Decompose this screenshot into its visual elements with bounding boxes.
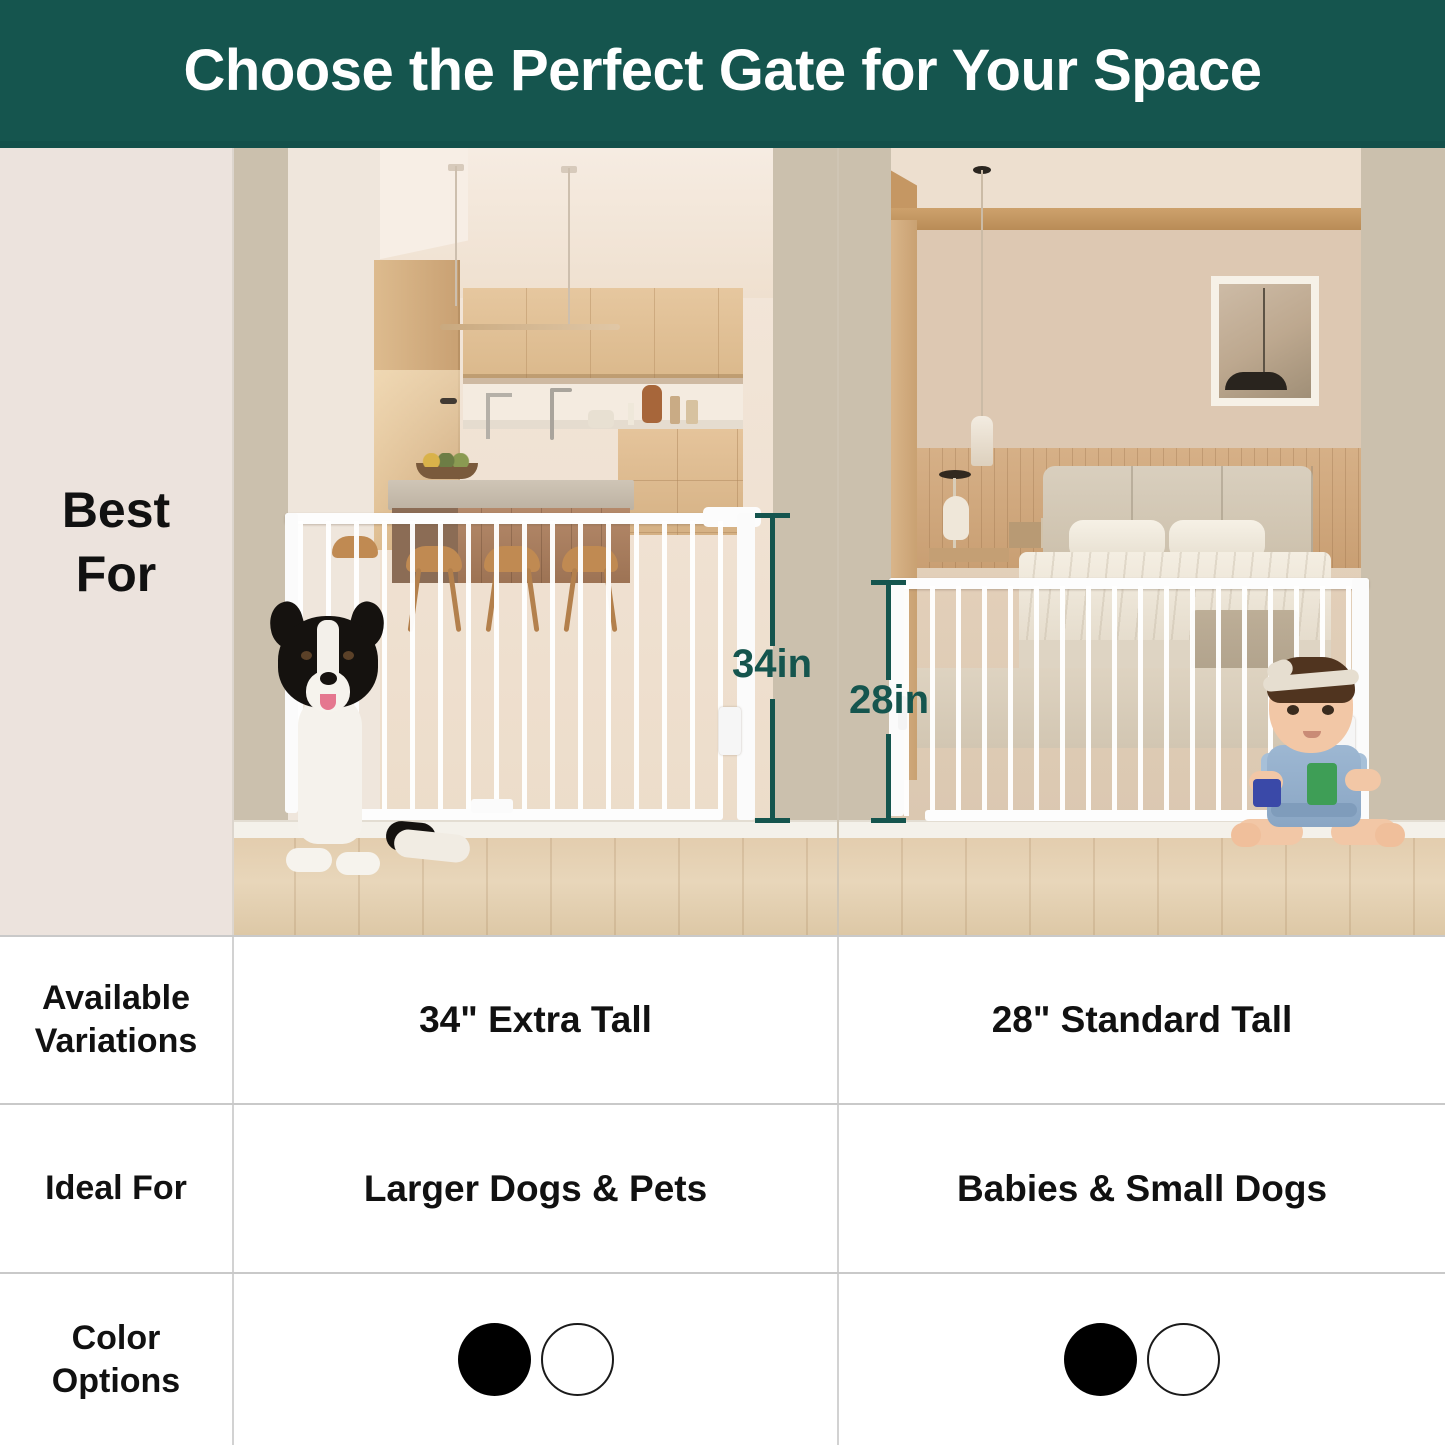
hero-divider-left bbox=[232, 148, 234, 935]
swatch-black-right[interactable] bbox=[1064, 1323, 1137, 1396]
dog-tail bbox=[393, 828, 472, 864]
border-collie-dog bbox=[254, 616, 464, 891]
faucet-1-spout bbox=[486, 393, 512, 397]
gate-mid-joint bbox=[471, 799, 513, 813]
artwork-canvas bbox=[1219, 284, 1311, 398]
color-swatches-left bbox=[232, 1274, 839, 1445]
faucet-1 bbox=[486, 393, 490, 439]
dog-tongue bbox=[320, 694, 336, 710]
baby-waist-tie bbox=[1271, 803, 1357, 817]
row-label-best-for: Best For bbox=[0, 148, 232, 935]
available-variations-line2: Variations bbox=[35, 1020, 198, 1063]
ideal-for-value-left: Larger Dogs & Pets bbox=[232, 1105, 839, 1272]
left-product-photo: 34in bbox=[232, 148, 839, 935]
dim-34-line-upper bbox=[770, 513, 775, 646]
fruit bbox=[421, 453, 473, 467]
toy-block-blue bbox=[1253, 779, 1281, 807]
ceramic-vase bbox=[943, 496, 969, 540]
row-label-color-options: Color Options bbox=[0, 1274, 232, 1445]
island-countertop bbox=[388, 480, 634, 510]
swatch-white-left[interactable] bbox=[541, 1323, 614, 1396]
door-handle-icon bbox=[440, 398, 457, 404]
row2-divider-left bbox=[232, 1105, 234, 1272]
hero-row: Best For bbox=[0, 148, 1445, 935]
row-label-ideal-for: Ideal For bbox=[0, 1105, 232, 1272]
baby-foot-right bbox=[1375, 823, 1405, 847]
framed-artwork bbox=[1211, 276, 1319, 406]
dim-28-bottom-cap bbox=[871, 818, 906, 823]
row1-divider-mid bbox=[837, 937, 839, 1103]
baby-figure bbox=[1227, 653, 1407, 853]
pendant-rod-1 bbox=[455, 166, 457, 306]
counter-kettle bbox=[588, 410, 614, 428]
ideal-for-value-right: Babies & Small Dogs bbox=[839, 1105, 1445, 1272]
variation-value-right: 28" Standard Tall bbox=[839, 937, 1445, 1103]
baby-arm-right bbox=[1345, 769, 1381, 791]
dog-paw-right bbox=[336, 852, 380, 875]
nightstand bbox=[929, 548, 1009, 562]
swatch-group-right bbox=[1064, 1323, 1220, 1396]
dim-28-line-lower bbox=[886, 734, 891, 820]
color-options-line2: Options bbox=[52, 1360, 180, 1403]
page-title: Choose the Perfect Gate for Your Space bbox=[184, 37, 1262, 104]
table-row-ideal-for: Ideal For Larger Dogs & Pets Babies & Sm… bbox=[0, 1105, 1445, 1272]
right-product-photo: 28in bbox=[839, 148, 1445, 935]
row-label-available-variations: Available Variations bbox=[0, 937, 232, 1103]
swatch-white-right[interactable] bbox=[1147, 1323, 1220, 1396]
dim-28-line-upper bbox=[886, 580, 891, 680]
row2-divider-mid bbox=[837, 1105, 839, 1272]
best-for-line2: For bbox=[62, 542, 170, 606]
dim-34-label: 34in bbox=[732, 642, 812, 687]
page-header: Choose the Perfect Gate for Your Space bbox=[0, 0, 1445, 141]
crown-molding bbox=[891, 208, 1361, 230]
dog-paw-left bbox=[286, 848, 332, 872]
row1-divider-left bbox=[232, 937, 234, 1103]
row3-divider-left bbox=[232, 1274, 234, 1445]
table-row-color-options: Color Options bbox=[0, 1274, 1445, 1445]
cutting-board bbox=[642, 385, 662, 423]
baby-eye-right bbox=[1322, 705, 1334, 715]
swatch-group-left bbox=[458, 1323, 614, 1396]
row3-divider-mid bbox=[837, 1274, 839, 1445]
pendant-rod-2 bbox=[568, 168, 570, 328]
cabinet-shadow bbox=[463, 374, 743, 384]
counter-jar bbox=[686, 400, 698, 424]
color-options-line1: Color bbox=[52, 1317, 180, 1360]
best-for-label: Best For bbox=[62, 478, 170, 606]
dim-34-bottom-cap bbox=[755, 818, 790, 823]
artwork-shape bbox=[1225, 372, 1287, 390]
available-variations-line1: Available bbox=[35, 977, 198, 1020]
faucet-2-spout bbox=[550, 388, 572, 392]
dog-chest bbox=[298, 694, 362, 844]
best-for-line1: Best bbox=[62, 478, 170, 542]
comparison-infographic: Choose the Perfect Gate for Your Space B… bbox=[0, 0, 1445, 1445]
color-swatches-right bbox=[839, 1274, 1445, 1445]
table-row-available-variations: Available Variations 34" Extra Tall 28" … bbox=[0, 937, 1445, 1103]
ideal-for-line1: Ideal For bbox=[45, 1167, 187, 1210]
toy-block-green bbox=[1307, 763, 1337, 805]
swatch-black-left[interactable] bbox=[458, 1323, 531, 1396]
hero-divider-mid bbox=[837, 148, 839, 935]
dim-28-label: 28in bbox=[849, 678, 929, 723]
faucet-2 bbox=[550, 388, 554, 440]
dog-eye-left bbox=[301, 651, 312, 660]
counter-bottle bbox=[670, 396, 680, 424]
header-underline bbox=[0, 141, 1445, 148]
variation-value-left: 34" Extra Tall bbox=[232, 937, 839, 1103]
dim-34-line-lower bbox=[770, 699, 775, 821]
gate-latch bbox=[719, 707, 741, 755]
counter-candle bbox=[628, 403, 634, 425]
dog-eye-right bbox=[343, 651, 354, 660]
dog-nose bbox=[320, 672, 337, 685]
linear-pendant-light bbox=[440, 324, 620, 330]
bedroom-pendant-rod bbox=[981, 170, 983, 420]
baby-eye-left bbox=[1287, 705, 1299, 715]
nightstand-book-1 bbox=[1009, 522, 1043, 548]
baby-foot-left bbox=[1231, 823, 1261, 847]
upper-cabinets bbox=[463, 288, 743, 378]
bedroom-pendant-shade bbox=[971, 416, 993, 466]
